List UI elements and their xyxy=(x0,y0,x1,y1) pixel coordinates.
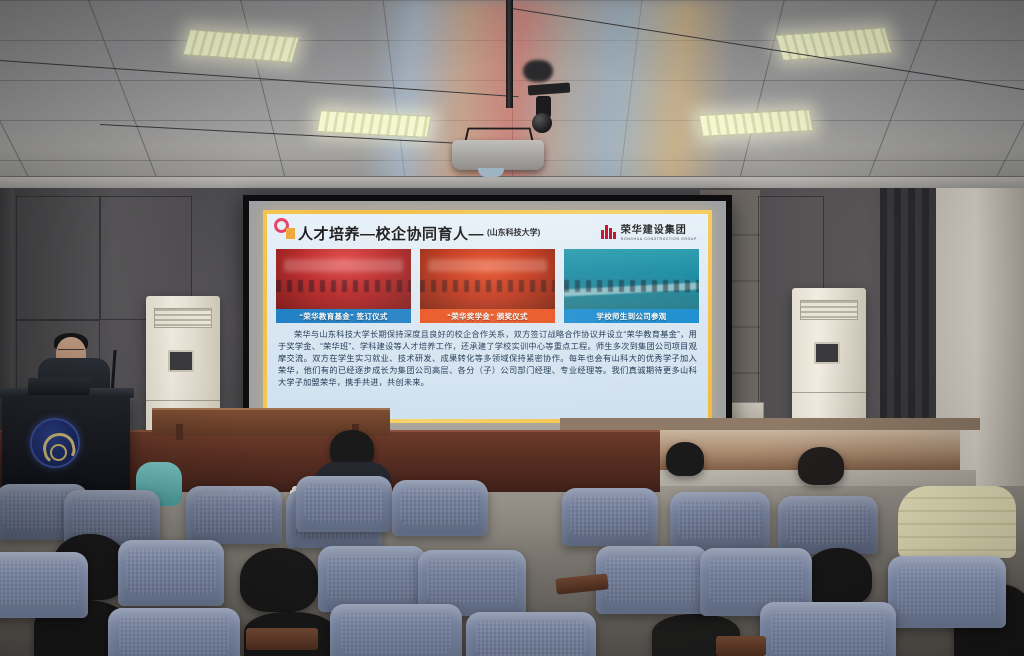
auditorium-seat[interactable] xyxy=(318,546,426,612)
slide-photo: “荣华奖学金” 颁奖仪式 xyxy=(420,249,555,323)
auditorium-seat[interactable] xyxy=(0,552,88,618)
stage-step xyxy=(560,418,980,430)
photo-caption: “荣华教育基金” 签订仪式 xyxy=(276,309,411,323)
square-decoration-icon xyxy=(286,228,295,239)
ac-vent-icon xyxy=(800,300,858,320)
company-logo: 荣华建设集团 RONGHUA CONSTRUCTION GROUP xyxy=(601,221,697,242)
projector-mount-pole xyxy=(506,0,513,108)
camera-lens-icon xyxy=(532,113,552,133)
glasses-icon xyxy=(58,349,84,354)
slide-photo: “荣华教育基金” 签订仪式 xyxy=(276,249,411,323)
slide-header: 人才培养—校企协同育人— (山东科技大学) 荣华建设集团 RONGHUA CON… xyxy=(276,219,699,247)
projector-lens-icon xyxy=(478,168,504,177)
slide-paragraph: 荣华与山东科技大学长期保持深度且良好的校企合作关系，双方签订战略合作协议并设立“… xyxy=(278,329,697,389)
slide-title: 人才培养—校企协同育人— xyxy=(298,223,484,244)
slide-photo-row: “荣华教育基金” 签订仪式 “荣华奖学金” 颁奖仪式 xyxy=(276,249,699,323)
company-name-cn: 荣华建设集团 xyxy=(621,225,687,236)
auditorium-seat[interactable] xyxy=(596,546,708,614)
seat-armrest xyxy=(716,636,766,656)
auditorium-seat[interactable] xyxy=(778,496,878,554)
audience-head xyxy=(798,447,844,485)
auditorium-seat[interactable] xyxy=(888,556,1006,628)
wall-panel xyxy=(16,196,100,320)
photo-caption: 学校师生到公司参观 xyxy=(564,309,699,323)
auditorium-seat[interactable] xyxy=(562,488,658,546)
photo-caption: “荣华奖学金” 颁奖仪式 xyxy=(420,309,555,323)
ronghua-mark-icon xyxy=(601,224,617,239)
auditorium-seat[interactable] xyxy=(330,604,462,656)
ac-vent-icon xyxy=(154,308,212,328)
audience-head xyxy=(804,548,872,606)
company-name-en: RONGHUA CONSTRUCTION GROUP xyxy=(621,238,697,242)
slide-photo: 学校师生到公司参观 xyxy=(564,249,699,323)
audience-head xyxy=(666,442,704,476)
slide-body-text: 荣华与山东科技大学长期保持深度且良好的校企合作关系，双方签订战略合作协议并设立“… xyxy=(276,329,699,389)
laptop-icon xyxy=(27,378,90,396)
auditorium-seat[interactable] xyxy=(760,602,896,656)
seat-armrest xyxy=(246,628,318,650)
auditorium-photo: 人才培养—校企协同育人— (山东科技大学) 荣华建设集团 RONGHUA CON… xyxy=(0,0,1024,656)
audience-head xyxy=(240,548,318,612)
table-leg xyxy=(176,424,183,440)
university-emblem-icon xyxy=(30,418,80,468)
auditorium-seat[interactable] xyxy=(108,608,240,656)
auditorium-seat[interactable] xyxy=(296,476,392,532)
puffer-jacket xyxy=(898,486,1016,558)
auditorium-seat[interactable] xyxy=(392,480,488,536)
ac-control-panel[interactable] xyxy=(814,342,840,364)
ac-control-panel[interactable] xyxy=(168,350,194,372)
auditorium-seat[interactable] xyxy=(186,486,282,544)
slide-title-subtitle: (山东科技大学) xyxy=(487,227,540,238)
auditorium-seat[interactable] xyxy=(118,540,224,606)
auditorium-seat[interactable] xyxy=(670,492,770,550)
projection-screen: 人才培养—校企协同育人— (山东科技大学) 荣华建设集团 RONGHUA CON… xyxy=(243,195,732,438)
ceiling-speaker-icon xyxy=(523,60,553,82)
presentation-slide: 人才培养—校企协同育人— (山东科技大学) 荣华建设集团 RONGHUA CON… xyxy=(263,210,712,423)
ceiling-projector xyxy=(452,140,544,170)
auditorium-seat[interactable] xyxy=(466,612,596,656)
